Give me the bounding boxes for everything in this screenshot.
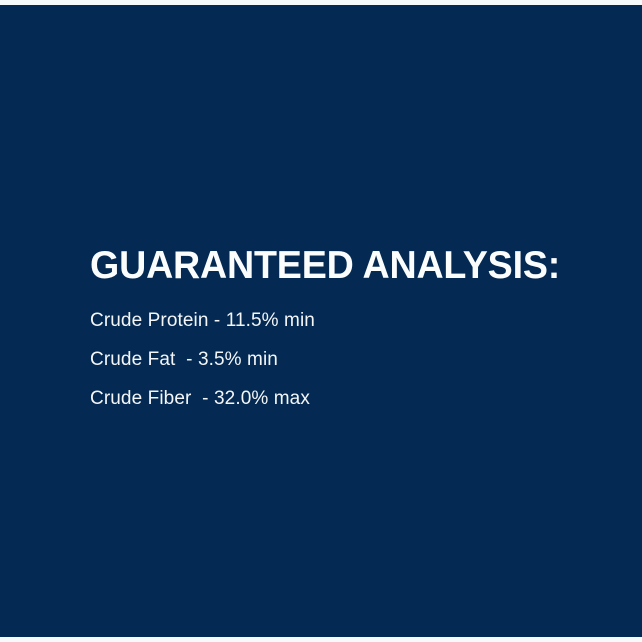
guaranteed-analysis-label: GUARANTEED ANALYSIS: Crude Protein - 11.…: [0, 0, 642, 642]
guaranteed-analysis-panel: GUARANTEED ANALYSIS: Crude Protein - 11.…: [90, 244, 590, 418]
nutrient-list: Crude Protein - 11.5% min Crude Fat - 3.…: [90, 301, 590, 418]
top-edge-strip: [0, 0, 642, 5]
nutrient-row-crude-fiber: Crude Fiber - 32.0% max: [90, 379, 590, 418]
nutrient-row-crude-fat: Crude Fat - 3.5% min: [90, 340, 590, 379]
nutrient-row-crude-protein: Crude Protein - 11.5% min: [90, 301, 590, 340]
guaranteed-analysis-heading: GUARANTEED ANALYSIS:: [90, 244, 573, 288]
bottom-edge-strip: [0, 637, 642, 642]
